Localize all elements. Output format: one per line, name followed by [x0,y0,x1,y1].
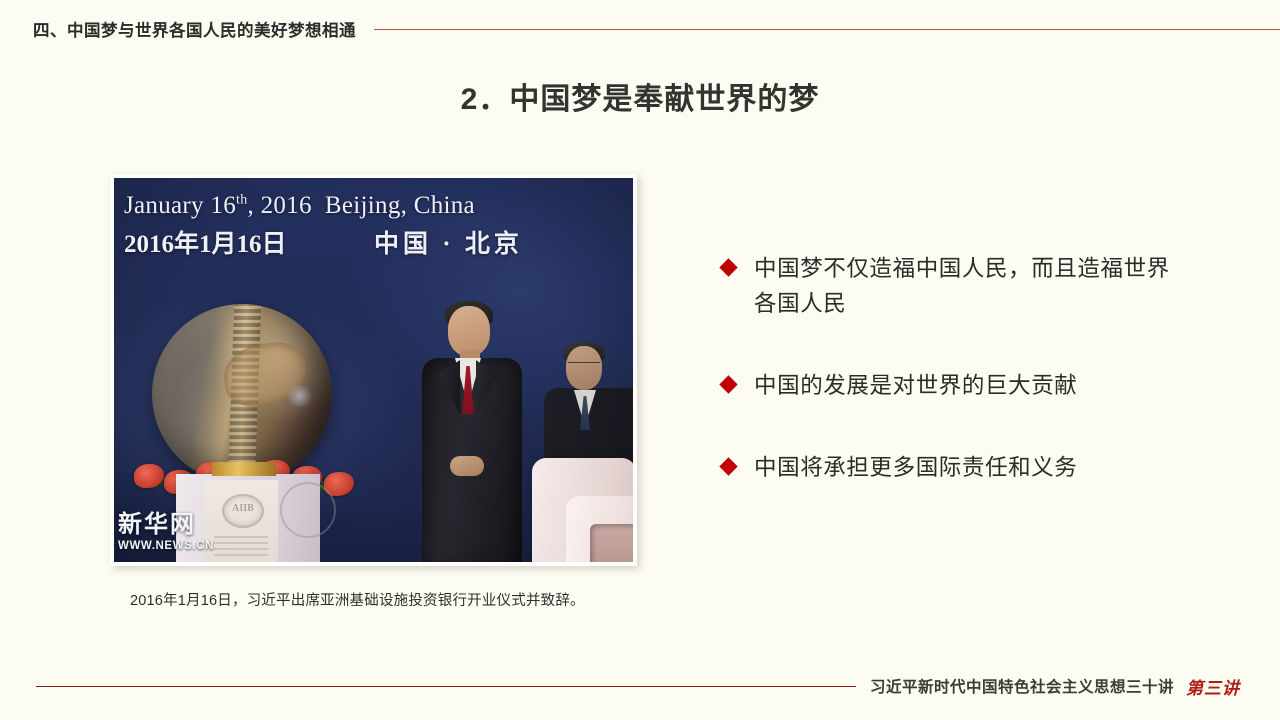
banner-english-line: January 16th, 2016 Beijing, China [124,192,624,220]
gold-plinth [212,462,276,476]
lecture-badge: 第三讲 [1186,674,1240,699]
series-title: 习近平新时代中国特色社会主义思想三十讲 [870,675,1174,697]
banner-chinese-line: 2016年1月16日 中国 · 北京 [124,224,624,260]
watermark-chinese: 新华网 [118,513,236,537]
slide-root: 四、中国梦与世界各国人民的美好梦想相通 2．中国梦是奉献世界的梦 January… [0,0,1280,720]
header-divider [374,29,1280,30]
list-item: 中国将承担更多国际责任和义务 [722,451,1192,486]
banner-date-cn: 2016年1月16日 [124,224,374,260]
list-item: 中国的发展是对世界的巨大贡献 [722,369,1192,404]
bullet-text: 中国的发展是对世界的巨大贡献 [754,369,1077,404]
section-title: 四、中国梦与世界各国人民的美好梦想相通 [33,17,356,41]
speaker-head [448,306,490,356]
banner-date-en: January 16 [124,192,236,219]
podium-recess [590,524,633,562]
globe-highlight [285,385,314,407]
list-item: 中国梦不仅造福中国人民，而且造福世界各国人民 [722,252,1192,322]
speaker-figure [414,306,534,562]
bullet-list: 中国梦不仅造福中国人民，而且造福世界各国人民 中国的发展是对世界的巨大贡献 中国… [722,252,1192,486]
xinhua-watermark: 新华网 WWW.NEWS.CN [118,513,236,552]
photo-caption: 2016年1月16日，习近平出席亚洲基础设施投资银行开业仪式并致辞。 [130,589,585,610]
photo-frame: January 16th, 2016 Beijing, China 2016年1… [110,174,637,566]
page-title: 2．中国梦是奉献世界的梦 [0,74,1280,118]
pedestal-arc-engraving [280,482,336,538]
bullet-text: 中国将承担更多国际责任和义务 [754,451,1077,486]
watermark-url: WWW.NEWS.CN [118,540,236,552]
photo-banner-text: January 16th, 2016 Beijing, China 2016年1… [124,192,624,260]
bullet-text: 中国梦不仅造福中国人民，而且造福世界各国人民 [754,252,1192,322]
banner-place-en: Beijing, China [325,192,475,219]
banner-place-cn: 中国 · 北京 [374,224,523,260]
glasses-icon [568,362,600,370]
slide-header: 四、中国梦与世界各国人民的美好梦想相通 [0,14,1280,44]
slide-footer: 习近平新时代中国特色社会主义思想三十讲 第三讲 [0,670,1280,702]
event-photo: January 16th, 2016 Beijing, China 2016年1… [114,178,633,562]
banner-ordinal-suffix: th [236,193,248,208]
footer-divider [36,686,856,687]
diamond-bullet-icon [719,258,737,276]
diamond-bullet-icon [719,375,737,393]
diamond-bullet-icon [719,457,737,475]
banner-year-en: , 2016 [248,192,312,219]
speaker-hands [450,456,484,476]
